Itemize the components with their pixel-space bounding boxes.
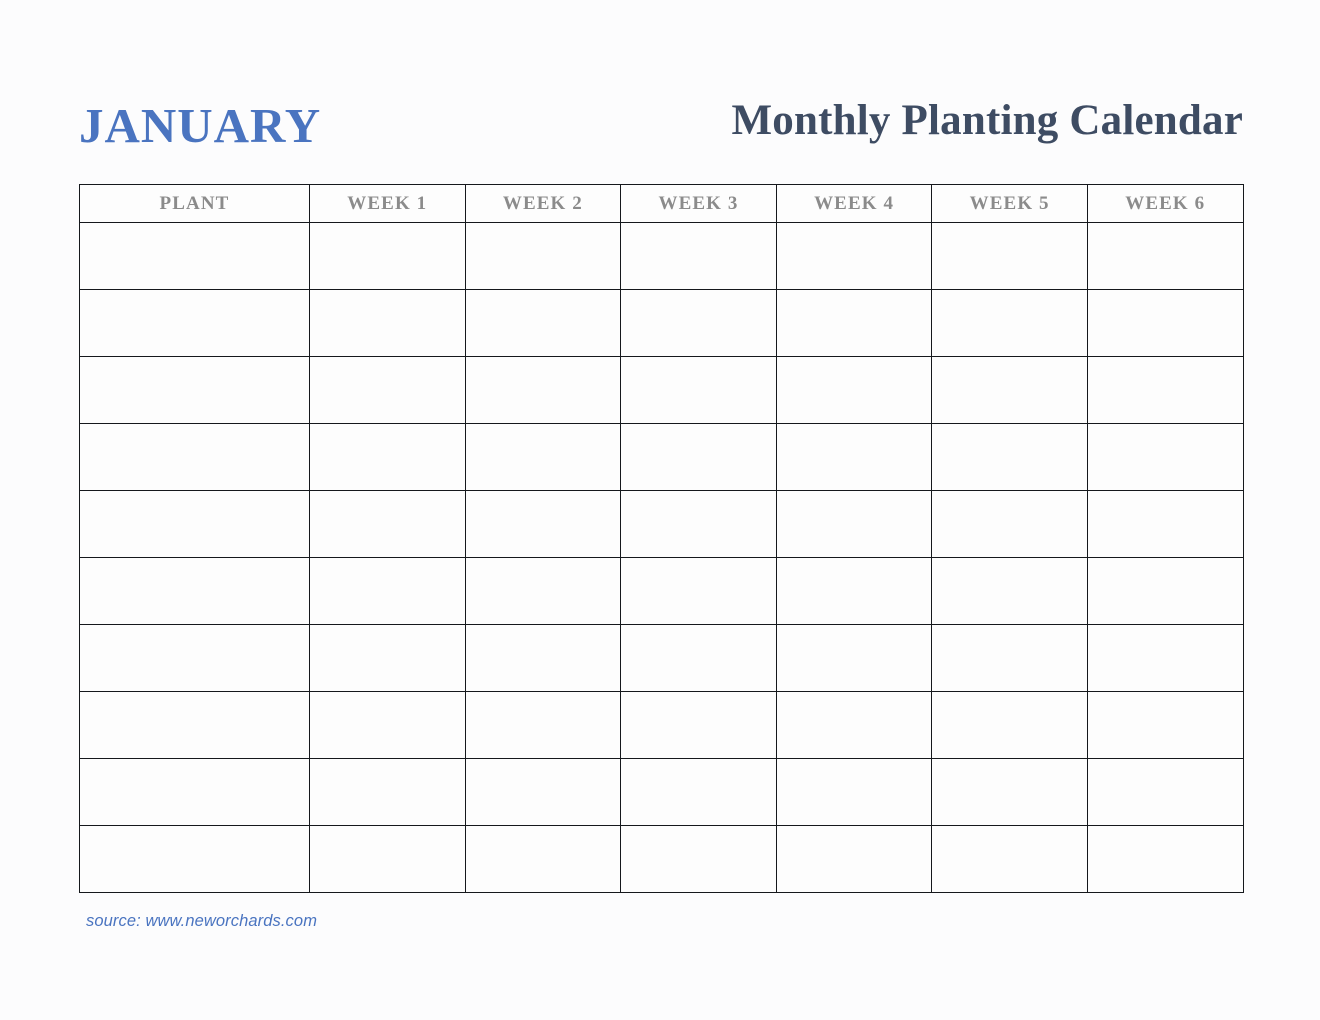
table-cell-plant[interactable]	[80, 357, 310, 424]
table-cell-week1[interactable]	[310, 491, 466, 558]
table-cell-week6[interactable]	[1087, 290, 1243, 357]
table-cell-week4[interactable]	[776, 558, 932, 625]
table-cell-week1[interactable]	[310, 759, 466, 826]
table-cell-plant[interactable]	[80, 424, 310, 491]
table-cell-week4[interactable]	[776, 491, 932, 558]
table-row	[80, 692, 1244, 759]
table-cell-week5[interactable]	[932, 223, 1088, 290]
table-cell-week3[interactable]	[621, 491, 777, 558]
table-cell-week4[interactable]	[776, 759, 932, 826]
column-header-week-4: Week 4	[776, 185, 932, 223]
table-cell-week2[interactable]	[465, 424, 621, 491]
table-body	[80, 223, 1244, 893]
column-header-week-5: Week 5	[932, 185, 1088, 223]
table-cell-week4[interactable]	[776, 826, 932, 893]
table-cell-week2[interactable]	[465, 625, 621, 692]
table-row	[80, 290, 1244, 357]
table-cell-week1[interactable]	[310, 692, 466, 759]
table-row	[80, 625, 1244, 692]
table-cell-week3[interactable]	[621, 223, 777, 290]
table-cell-week5[interactable]	[932, 290, 1088, 357]
table-cell-week2[interactable]	[465, 692, 621, 759]
table-cell-week3[interactable]	[621, 692, 777, 759]
table-cell-week2[interactable]	[465, 357, 621, 424]
table-cell-week4[interactable]	[776, 357, 932, 424]
table-cell-week6[interactable]	[1087, 558, 1243, 625]
column-header-week-1: Week 1	[310, 185, 466, 223]
table-cell-week4[interactable]	[776, 290, 932, 357]
table-row	[80, 491, 1244, 558]
table-cell-week5[interactable]	[932, 759, 1088, 826]
table-cell-week1[interactable]	[310, 625, 466, 692]
table-cell-week2[interactable]	[465, 223, 621, 290]
table-cell-plant[interactable]	[80, 759, 310, 826]
table-cell-week4[interactable]	[776, 223, 932, 290]
table-cell-week3[interactable]	[621, 558, 777, 625]
table-cell-plant[interactable]	[80, 692, 310, 759]
column-header-plant: Plant	[80, 185, 310, 223]
table-row	[80, 759, 1244, 826]
table-cell-week6[interactable]	[1087, 357, 1243, 424]
table-cell-week6[interactable]	[1087, 692, 1243, 759]
table-cell-week6[interactable]	[1087, 491, 1243, 558]
table-cell-week1[interactable]	[310, 223, 466, 290]
table-cell-plant[interactable]	[80, 558, 310, 625]
planting-calendar-table: Plant Week 1 Week 2 Week 3 Week 4 Week 5…	[79, 184, 1244, 893]
table-cell-week3[interactable]	[621, 826, 777, 893]
table-row	[80, 826, 1244, 893]
table-header-row: Plant Week 1 Week 2 Week 3 Week 4 Week 5…	[80, 185, 1244, 223]
table-cell-week6[interactable]	[1087, 826, 1243, 893]
column-header-week-6: Week 6	[1087, 185, 1243, 223]
source-note: source: www.neworchards.com	[86, 912, 317, 931]
table-cell-week2[interactable]	[465, 290, 621, 357]
table-cell-week6[interactable]	[1087, 424, 1243, 491]
table-cell-plant[interactable]	[80, 491, 310, 558]
table-cell-week3[interactable]	[621, 357, 777, 424]
table-cell-week5[interactable]	[932, 826, 1088, 893]
table-cell-week4[interactable]	[776, 625, 932, 692]
table-row	[80, 558, 1244, 625]
calendar-table-container: Plant Week 1 Week 2 Week 3 Week 4 Week 5…	[79, 184, 1243, 893]
table-cell-week5[interactable]	[932, 491, 1088, 558]
table-header: Plant Week 1 Week 2 Week 3 Week 4 Week 5…	[80, 185, 1244, 223]
table-cell-week6[interactable]	[1087, 759, 1243, 826]
table-cell-plant[interactable]	[80, 826, 310, 893]
table-cell-plant[interactable]	[80, 625, 310, 692]
table-cell-week2[interactable]	[465, 491, 621, 558]
column-header-week-2: Week 2	[465, 185, 621, 223]
table-cell-week5[interactable]	[932, 692, 1088, 759]
table-cell-week5[interactable]	[932, 625, 1088, 692]
table-cell-week2[interactable]	[465, 759, 621, 826]
table-cell-week5[interactable]	[932, 558, 1088, 625]
table-cell-week1[interactable]	[310, 357, 466, 424]
planting-calendar-page: January Monthly Planting Calendar Plant …	[0, 0, 1320, 1020]
table-cell-plant[interactable]	[80, 223, 310, 290]
table-cell-week6[interactable]	[1087, 223, 1243, 290]
table-cell-week5[interactable]	[932, 357, 1088, 424]
column-header-week-3: Week 3	[621, 185, 777, 223]
table-cell-week3[interactable]	[621, 290, 777, 357]
table-cell-week6[interactable]	[1087, 625, 1243, 692]
table-cell-week2[interactable]	[465, 558, 621, 625]
table-cell-week4[interactable]	[776, 692, 932, 759]
table-cell-week3[interactable]	[621, 625, 777, 692]
table-cell-week1[interactable]	[310, 424, 466, 491]
table-cell-week1[interactable]	[310, 558, 466, 625]
table-cell-week4[interactable]	[776, 424, 932, 491]
table-cell-week3[interactable]	[621, 424, 777, 491]
table-cell-week2[interactable]	[465, 826, 621, 893]
table-row	[80, 357, 1244, 424]
table-cell-week1[interactable]	[310, 290, 466, 357]
table-cell-week1[interactable]	[310, 826, 466, 893]
table-row	[80, 424, 1244, 491]
page-header: January Monthly Planting Calendar	[79, 72, 1243, 168]
table-cell-week5[interactable]	[932, 424, 1088, 491]
month-title: January	[79, 85, 321, 155]
page-title: Monthly Planting Calendar	[732, 99, 1244, 142]
table-cell-plant[interactable]	[80, 290, 310, 357]
table-row	[80, 223, 1244, 290]
table-cell-week3[interactable]	[621, 759, 777, 826]
